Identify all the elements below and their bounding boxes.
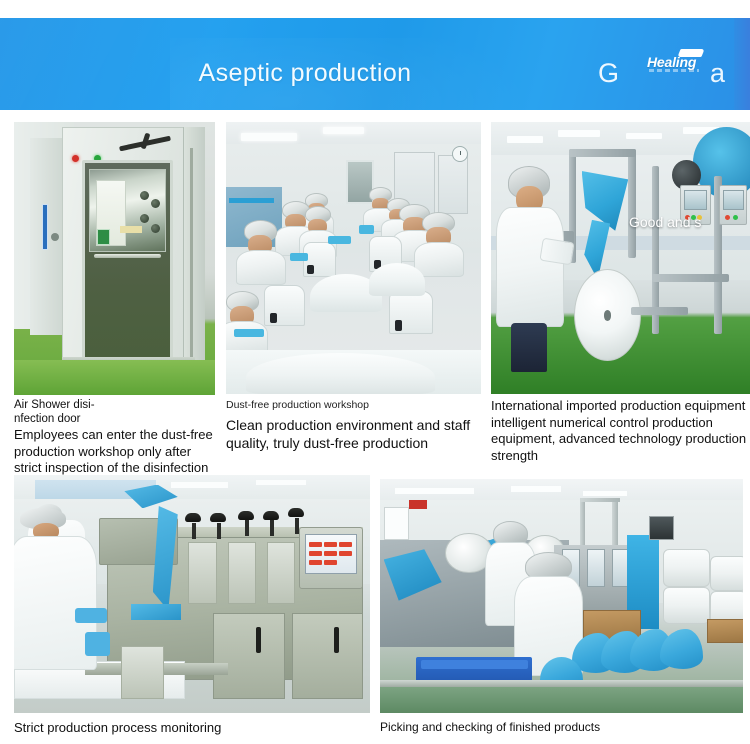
caption-body: International imported production equipm… [491,398,750,464]
brand-letter-a: a [710,58,725,88]
page-title: Aseptic production [0,58,750,88]
caption-body: Strict production process monitoring [14,719,370,736]
caption-body: Picking and checking of finished product… [380,719,743,736]
hmi-screen[interactable] [305,534,357,574]
wall-monitor [649,516,674,539]
caption-title: Dust-free production workshop [226,398,481,412]
red-wall-sign [409,500,427,509]
gallery-item-process-monitoring: Strict production process monitoring [14,475,370,736]
logo-underline [649,69,699,72]
photo-strict-production-process-monitoring [14,475,370,713]
logo-wordmark: Healing [647,55,696,70]
gallery-item-finished-products: Picking and checking of finished product… [380,479,743,736]
gallery-item-imported-equipment: Good and s International imported produc… [491,122,750,464]
photo-dust-free-production-workshop [226,122,481,394]
machine-touchscreen-panel[interactable] [299,527,363,589]
photo-overlay-text: Good and s [629,214,701,231]
line-operator [14,508,92,694]
page-header-banner: Aseptic production [0,18,750,110]
indicator-light-red [72,155,79,162]
caption-body: Clean production environment and staff q… [226,416,481,452]
gallery-item-air-shower: Air Shower disi- nfection door Employees… [14,122,215,493]
machine-operator [496,166,563,373]
gallery-top-row: Air Shower disi- nfection door Employees… [0,122,750,462]
gallery-item-dust-free-workshop: Dust-free production workshop Clean prod… [226,122,481,452]
brand-letter-g: G [598,58,619,88]
white-fabric-roll [574,269,641,361]
photo-picking-and-checking-of-finished-products [380,479,743,713]
photo-air-shower-disinfection-door [14,122,215,395]
healing-logo: Healing [645,47,707,77]
gallery-bottom-row: Strict production process monitoring [0,475,750,744]
wall-notice [384,507,409,540]
photo-international-imported-production-equipment: Good and s [491,122,750,394]
banner-right-edge [734,18,750,110]
product-gallery-page: Aseptic production G Healing a [0,0,750,744]
caption-title: Air Shower disi- nfection door [14,398,215,426]
